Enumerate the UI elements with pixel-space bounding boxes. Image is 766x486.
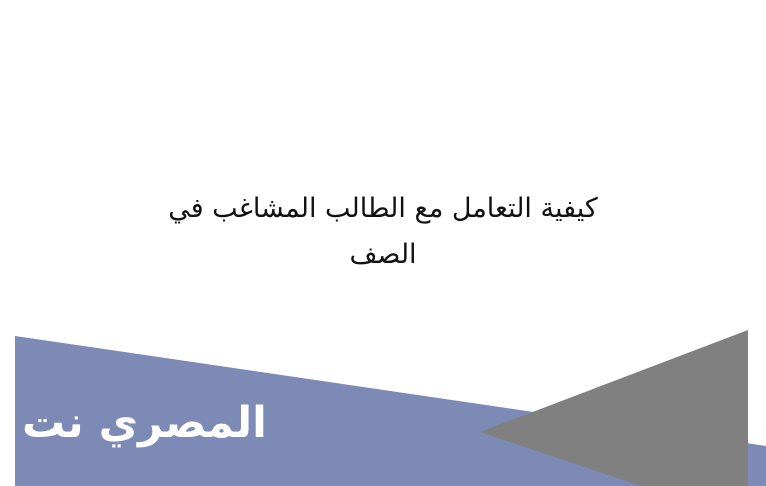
site-logo: المصري نت	[22, 398, 267, 448]
page-title: كيفية التعامل مع الطالب المشاغب في الصف	[0, 186, 766, 278]
page-title-line-2: الصف	[0, 232, 766, 278]
page-title-line-1: كيفية التعامل مع الطالب المشاغب في	[0, 186, 766, 232]
site-logo-text: المصري نت	[22, 398, 267, 448]
banner-canvas: كيفية التعامل مع الطالب المشاغب في الصف …	[0, 0, 766, 486]
gray-wedge-shape	[480, 330, 748, 486]
